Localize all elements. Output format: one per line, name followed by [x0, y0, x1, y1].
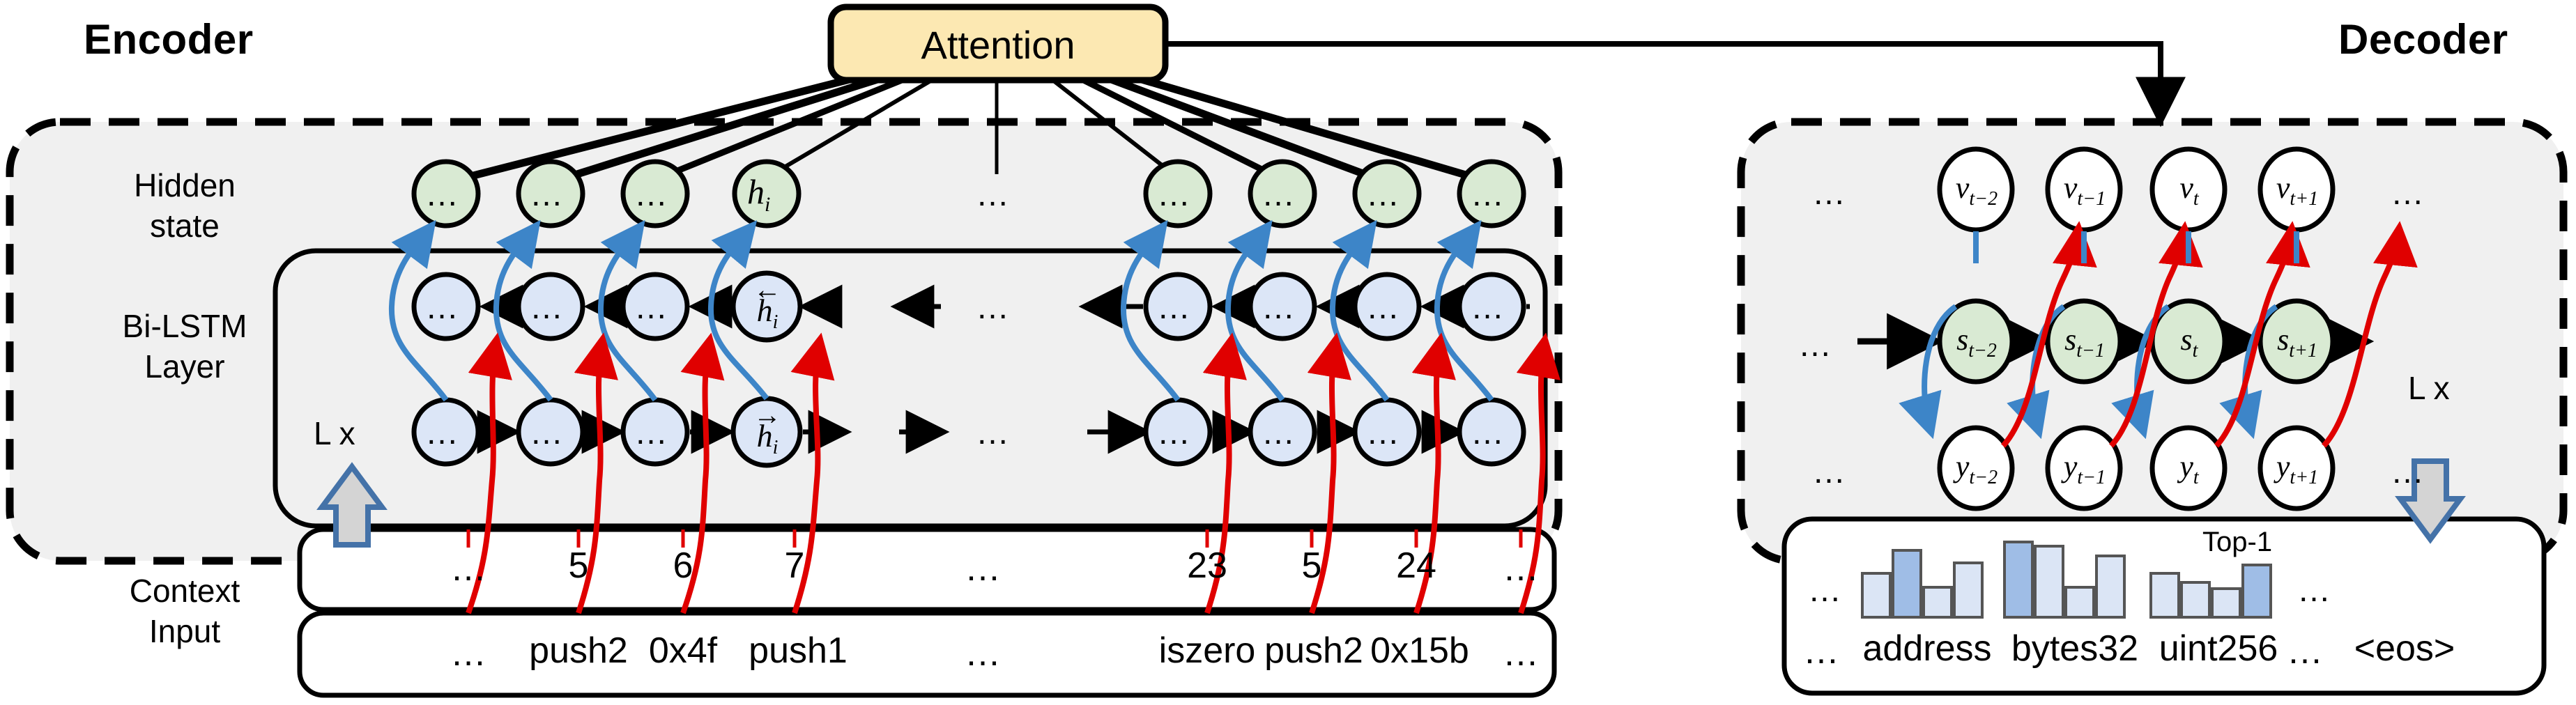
context-value-8: … [1465, 548, 1577, 589]
decoder-repeat-label: L x [2408, 369, 2450, 407]
hidden-node-7-label: … [1471, 176, 1505, 214]
encoder-repeat-label: L x [314, 415, 355, 452]
context-value-7: 24 [1360, 545, 1472, 587]
decoder-v-node-0-label: vt−2 [1943, 170, 2010, 210]
hidden-node-6-label: … [1366, 176, 1401, 214]
backward-node-5-label: … [1262, 288, 1296, 327]
context-value-5: 23 [1151, 545, 1263, 587]
context-value-2: 6 [627, 545, 739, 587]
hidden-node-0-label: … [425, 176, 460, 214]
decoder-output-token-5: <eos> [2328, 628, 2481, 669]
decoder-v-node-1-label: vt−1 [2051, 170, 2118, 210]
encoder-title: Encoder [84, 15, 254, 63]
diagram-canvas: Encoder Decoder Attention Hidden state B… [0, 0, 2576, 705]
decoder-y-node-0-label: yt−2 [1943, 449, 2010, 489]
hidden-state-label-line2: state [150, 208, 220, 244]
bilstm-label-line1: Bi-LSTM [123, 308, 247, 344]
backward-node-4-label: … [1157, 288, 1192, 327]
top1-annotation: Top-1 [2202, 527, 2272, 558]
hidden-node-1-label: … [530, 176, 565, 214]
backward-row-ellipsis: … [976, 288, 1011, 327]
decoder-s-row-leading-ellipsis: … [1798, 326, 1833, 364]
hidden-node-5-label: … [1262, 176, 1296, 214]
input-token-2: 0x4f [620, 630, 746, 672]
context-value-6: 5 [1256, 545, 1367, 587]
decoder-s-node-1-label: st−1 [2051, 322, 2118, 362]
decoder-s-node-0-label: st−2 [1943, 322, 2010, 362]
forward-node-7-label: … [1471, 414, 1505, 452]
hidden-node-hi-label: hi [747, 171, 770, 217]
context-value-ellipsis: … [927, 548, 1038, 589]
backward-node-6-label: … [1366, 288, 1401, 327]
decoder-v-node-3-label: vt+1 [2264, 170, 2331, 210]
decoder-output-token-3: uint256 [2131, 628, 2306, 669]
decoder-y-node-3-label: yt+1 [2264, 449, 2331, 489]
forward-node-1-label: … [530, 414, 565, 452]
decoder-y-row-leading-ellipsis: … [1812, 453, 1847, 491]
hidden-node-4-label: … [1157, 176, 1192, 214]
bilstm-label-line2: Layer [144, 348, 224, 385]
input-token-0: … [413, 633, 524, 674]
decoder-v-row-trailing-ellipsis: … [2391, 174, 2425, 212]
input-token-3: push1 [732, 630, 864, 672]
decoder-output-token-4: … [2280, 630, 2329, 672]
forward-node-4-label: … [1157, 414, 1192, 452]
decoder-v-row-leading-ellipsis: … [1812, 174, 1847, 212]
context-value-1: 5 [523, 545, 634, 587]
hidden-row-ellipsis: … [976, 176, 1011, 214]
forward-node-hi-label: → hi [742, 405, 793, 455]
decoder-s-node-3-label: st+1 [2264, 322, 2331, 362]
hidden-state-label: Hidden state [91, 166, 279, 246]
input-label-line2: Input [149, 613, 220, 649]
hidden-state-label-line1: Hidden [134, 167, 236, 203]
decoder-s-node-2-label: st [2158, 322, 2221, 362]
attention-to-decoder-line [1165, 44, 2161, 117]
backward-node-0-label: … [425, 288, 460, 327]
decoder-y-node-2-label: yt [2158, 449, 2221, 489]
input-token-ellipsis: … [927, 633, 1038, 674]
input-token-8: … [1465, 633, 1577, 674]
decoder-y-row-trailing-ellipsis: … [2391, 453, 2425, 491]
context-value-3: 7 [739, 545, 850, 587]
hidden-node-2-label: … [634, 176, 669, 214]
backward-node-7-label: … [1471, 288, 1505, 327]
decoder-y-node-1-label: yt−1 [2051, 449, 2118, 489]
backward-node-hi-label: ← hi [742, 280, 793, 330]
forward-node-2-label: … [634, 414, 669, 452]
context-value-0: … [413, 548, 524, 589]
attention-label[interactable]: Attention [831, 22, 1165, 68]
context-label-line1: Context [130, 573, 240, 609]
bilstm-layer-label: Bi-LSTM Layer [80, 307, 289, 387]
decoder-title: Decoder [2338, 15, 2508, 63]
forward-row-ellipsis: … [976, 414, 1011, 452]
forward-node-6-label: … [1366, 414, 1401, 452]
decoder-v-node-2-label: vt [2158, 170, 2221, 210]
decoder-bars-leading-ellipsis: … [1808, 571, 1843, 610]
forward-node-0-label: … [425, 414, 460, 452]
backward-node-1-label: … [530, 288, 565, 327]
backward-node-2-label: … [634, 288, 669, 327]
context-input-label: Context Input [87, 571, 282, 651]
decoder-output-token-0: … [1797, 630, 1846, 672]
forward-node-5-label: … [1262, 414, 1296, 452]
decoder-bars-trailing-ellipsis: … [2297, 571, 2332, 610]
